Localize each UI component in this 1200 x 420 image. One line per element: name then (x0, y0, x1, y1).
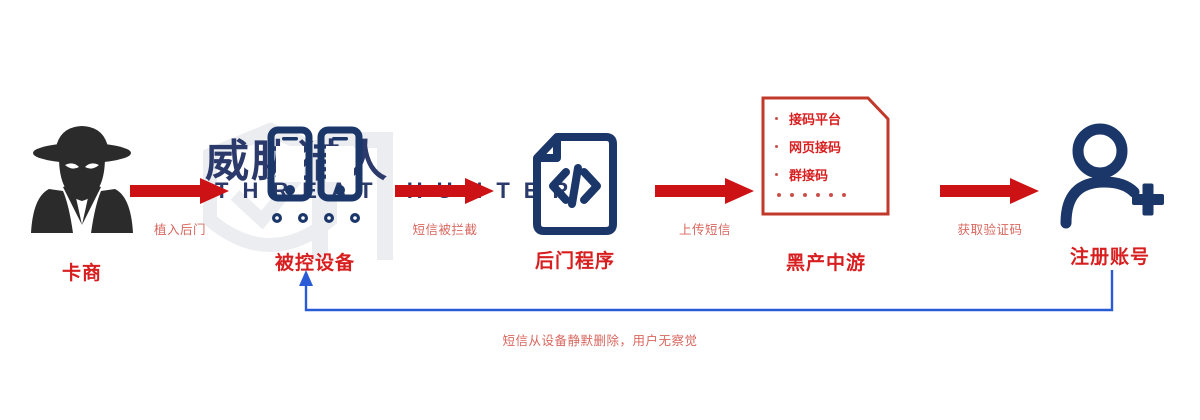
arrow-1-label: 植入后门 (118, 219, 242, 238)
arrow-2-label: 短信被拦截 (383, 219, 507, 238)
arrow-right-icon (130, 178, 230, 204)
feedback-loop-label: 短信从设备静默删除，用户无察觉 (0, 330, 1200, 349)
arrow-right-icon (940, 178, 1040, 204)
node-label-backdoor-program: 后门程序 (505, 246, 645, 273)
arrow-1: 植入后门 (118, 178, 242, 238)
bullet-icon (775, 117, 778, 120)
node-backdoor-program[interactable]: 后门程序 (505, 110, 645, 273)
list-item-label: 接码平台 (789, 109, 841, 128)
add-user-icon (1035, 112, 1185, 234)
market-list: 接码平台 网页接码 群接码 (761, 96, 890, 216)
arrow-right-icon (655, 178, 755, 204)
node-label-card-merchant: 卡商 (12, 258, 152, 285)
list-item-label: 群接码 (789, 165, 828, 184)
code-file-icon (505, 110, 645, 236)
arrow-2: 短信被拦截 (383, 178, 507, 238)
node-register-account[interactable]: 注册账号 (1035, 112, 1185, 269)
node-label-register-account: 注册账号 (1035, 242, 1185, 269)
market-box-icon: 接码平台 网页接码 群接码 (761, 96, 890, 216)
bullet-icon (775, 173, 778, 176)
list-item[interactable]: 接码平台 (775, 109, 890, 128)
bullet-icon (775, 145, 778, 148)
arrow-3-label: 上传短信 (643, 219, 767, 238)
node-controlled-devices[interactable]: 被控设备 (245, 118, 385, 275)
arrow-4: 获取验证码 (928, 178, 1052, 238)
diagram-canvas: 威胁猎人 THREAT HUNTER (0, 0, 1200, 420)
list-item[interactable]: 群接码 (775, 165, 890, 184)
ellipsis-dots-icon (777, 193, 890, 197)
arrow-3: 上传短信 (643, 178, 767, 238)
feedback-loop (280, 270, 1120, 330)
list-item-label: 网页接码 (789, 137, 841, 156)
arrow-right-icon (395, 178, 495, 204)
arrow-4-label: 获取验证码 (928, 219, 1052, 238)
phones-icon (245, 118, 385, 236)
list-item[interactable]: 网页接码 (775, 137, 890, 156)
